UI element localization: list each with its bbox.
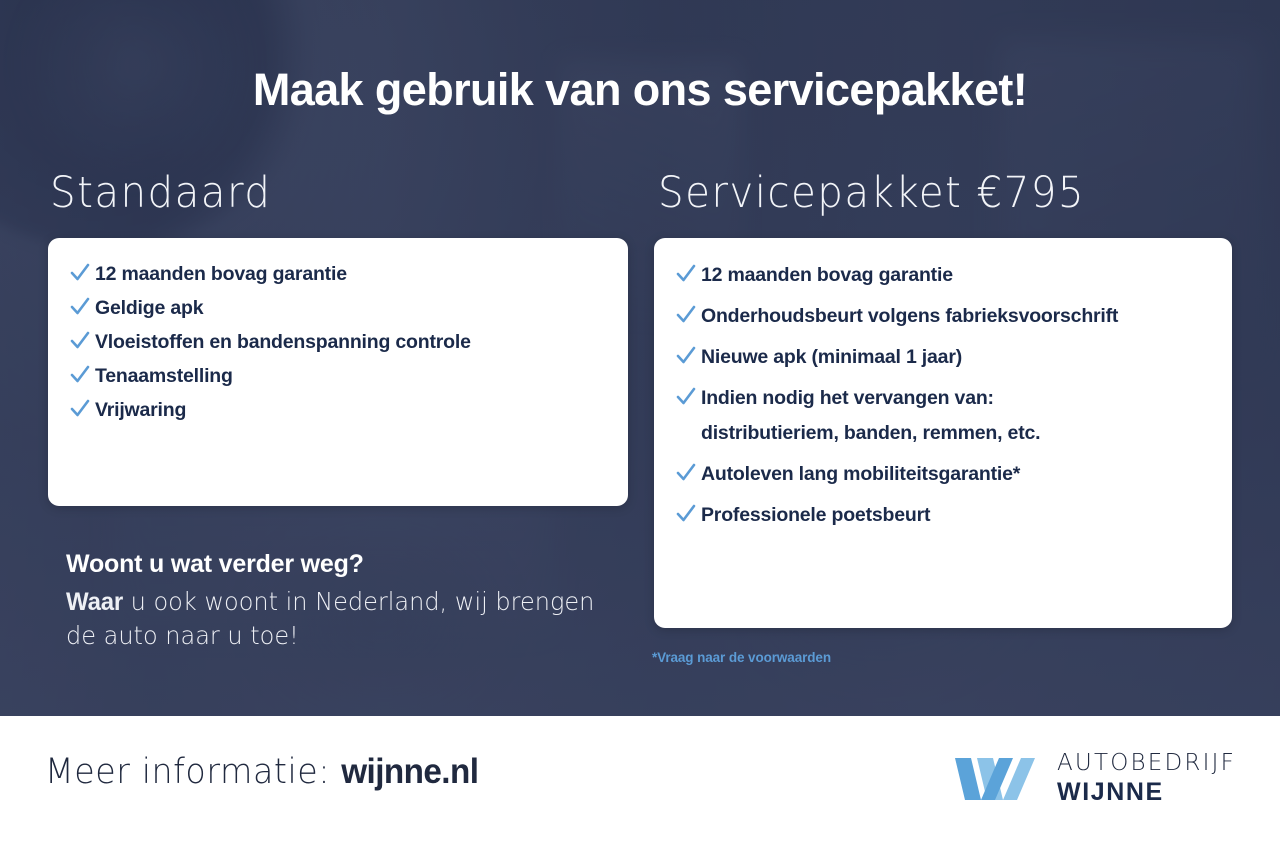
list-item-label: Autoleven lang mobiliteitsgarantie* xyxy=(701,462,1020,487)
delivery-note-body: Waar u ook woont in Nederland, wij breng… xyxy=(66,585,604,652)
list-item-label: Tenaamstelling xyxy=(95,364,233,389)
list-item-label: Geldige apk xyxy=(95,296,203,321)
check-icon xyxy=(676,503,696,525)
w-monogram-icon xyxy=(955,756,1041,802)
column-heading-standard: Standaard xyxy=(50,168,271,218)
more-info-label: Meer informatie: xyxy=(45,752,341,792)
website-link[interactable]: wijnne.nl xyxy=(341,752,478,791)
delivery-note-title: Woont u wat verder weg? xyxy=(66,550,626,579)
check-icon xyxy=(676,462,696,484)
delivery-note: Woont u wat verder weg? Waar u ook woont… xyxy=(66,550,626,652)
service-package-poster: Maak gebruik van ons servicepakket! Stan… xyxy=(0,0,1280,853)
list-item: Vloeistoffen en bandenspanning controle xyxy=(48,330,628,355)
list-item: Indien nodig het vervangen van: distribu… xyxy=(654,386,1232,446)
list-item-label: Onderhoudsbeurt volgens fabrieksvoorschr… xyxy=(701,304,1118,329)
check-icon xyxy=(70,398,90,420)
terms-footnote: *Vraag naar de voorwaarden xyxy=(652,650,831,665)
check-icon xyxy=(676,345,696,367)
list-item: Vrijwaring xyxy=(48,398,628,423)
check-icon xyxy=(70,330,90,352)
list-item-label: Indien nodig het vervangen van: xyxy=(701,386,1040,411)
page-title: Maak gebruik van ons servicepakket! xyxy=(0,64,1280,116)
logo-line-autobedrijf: AUTOBEDRIJF xyxy=(1057,752,1236,775)
logo-wordmark: AUTOBEDRIJF WIJNNE xyxy=(1057,752,1236,805)
more-info-text: Meer informatie: wijnne.nl xyxy=(45,752,478,792)
check-icon xyxy=(676,263,696,285)
check-icon xyxy=(70,296,90,318)
delivery-note-emphasis: Waar xyxy=(66,588,123,616)
list-item: Onderhoudsbeurt volgens fabrieksvoorschr… xyxy=(654,304,1232,329)
list-item-label: 12 maanden bovag garantie xyxy=(701,263,953,288)
check-icon xyxy=(70,262,90,284)
list-item-sublabel: distributieriem, banden, remmen, etc. xyxy=(701,421,1040,446)
check-icon xyxy=(70,364,90,386)
list-item-label: 12 maanden bovag garantie xyxy=(95,262,347,287)
standard-feature-list: 12 maanden bovag garantie Geldige apk Vl… xyxy=(48,238,628,423)
list-item-label: Vrijwaring xyxy=(95,398,186,423)
list-item: Tenaamstelling xyxy=(48,364,628,389)
list-item: 12 maanden bovag garantie xyxy=(654,263,1232,288)
service-package-card: 12 maanden bovag garantie Onderhoudsbeur… xyxy=(654,238,1232,628)
check-icon xyxy=(676,304,696,326)
list-item-label: Nieuwe apk (minimaal 1 jaar) xyxy=(701,345,962,370)
logo-line-wijnne: WIJNNE xyxy=(1057,780,1236,805)
list-item-label: Professionele poetsbeurt xyxy=(701,503,930,528)
list-item: Geldige apk xyxy=(48,296,628,321)
delivery-note-rest: u ook woont in Nederland, wij brengen de… xyxy=(66,587,594,650)
list-item: Autoleven lang mobiliteitsgarantie* xyxy=(654,462,1232,487)
list-item: 12 maanden bovag garantie xyxy=(48,262,628,287)
list-item: Nieuwe apk (minimaal 1 jaar) xyxy=(654,345,1232,370)
service-feature-list: 12 maanden bovag garantie Onderhoudsbeur… xyxy=(654,238,1232,528)
company-logo: AUTOBEDRIJF WIJNNE xyxy=(955,752,1236,805)
column-heading-service: Servicepakket €795 xyxy=(658,168,1085,218)
list-item: Professionele poetsbeurt xyxy=(654,503,1232,528)
list-item-label: Vloeistoffen en bandenspanning controle xyxy=(95,330,471,355)
standard-package-card: 12 maanden bovag garantie Geldige apk Vl… xyxy=(48,238,628,506)
check-icon xyxy=(676,386,696,408)
